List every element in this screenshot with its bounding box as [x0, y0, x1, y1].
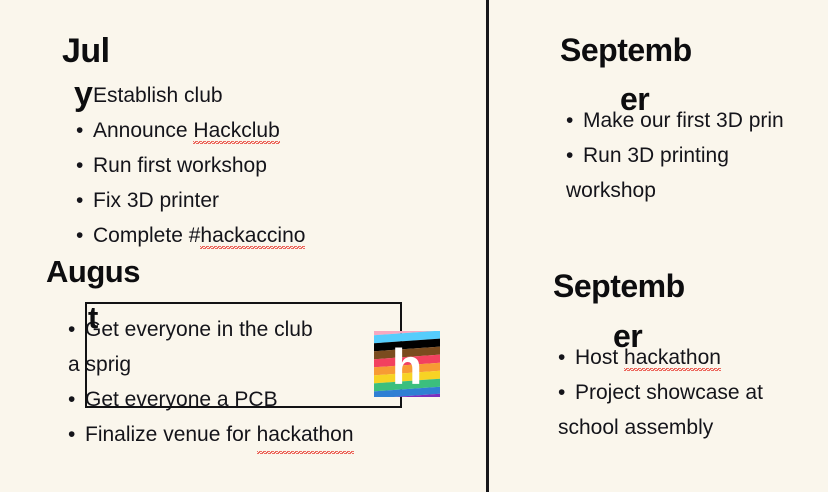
hack-club-flag-svg: h	[374, 331, 440, 397]
slide-canvas: Jul y • Establish club • Announce Hackcl…	[0, 0, 828, 492]
list-item-label: Fix 3D printer	[93, 189, 219, 212]
list-item[interactable]: • Complete #hackaccino	[76, 218, 305, 253]
list-item-label: Run first workshop	[93, 154, 267, 177]
bullet-dot: •	[76, 148, 83, 183]
list-item-label: Complete #hackaccino	[93, 224, 305, 250]
selection-rectangle[interactable]	[85, 302, 402, 408]
list-item[interactable]: • Run 3D printing workshop	[566, 138, 784, 208]
list-item[interactable]: • Project showcase at school assembly	[558, 375, 763, 445]
hack-club-logo-icon[interactable]: h	[374, 331, 440, 397]
list-item[interactable]: • Make our first 3D prin	[566, 103, 784, 138]
list-item-label: Finalize venue for	[85, 423, 251, 446]
list-item-label-line2: workshop	[566, 173, 784, 208]
bullet-dot: •	[76, 183, 83, 218]
heading-july-line1: Jul	[62, 34, 110, 68]
list-item[interactable]: • Announce Hackclub	[76, 113, 305, 148]
list-item-label: Host hackathon	[575, 346, 721, 372]
september-2-bullet-list: • Host hackathon • Project showcase at s…	[558, 340, 763, 445]
bullet-dot: •	[566, 138, 573, 173]
misspelled-word: hackathon	[257, 417, 354, 455]
heading-september-1-line1: Septemb	[560, 34, 692, 66]
bullet-dot: •	[68, 417, 75, 452]
list-item-label: Make our first 3D prin	[583, 109, 784, 132]
list-item[interactable]: • Host hackathon	[558, 340, 763, 375]
heading-september-2-line1: Septemb	[553, 270, 685, 302]
list-item-label: Run 3D printing	[583, 144, 729, 167]
logo-letter: h	[392, 339, 423, 395]
list-item[interactable]: • Finalize venue for hackathon	[68, 417, 354, 455]
heading-august-line2: t	[88, 302, 98, 333]
bullet-dot: •	[68, 312, 75, 347]
september-1-bullet-list: • Make our first 3D prin • Run 3D printi…	[566, 103, 784, 208]
list-item[interactable]: • Establish club	[76, 78, 305, 113]
bullet-dot: •	[558, 375, 565, 410]
list-item[interactable]: • Run first workshop	[76, 148, 305, 183]
list-item-label: Project showcase at	[575, 381, 763, 404]
list-item-label-line2: school assembly	[558, 410, 763, 445]
misspelled-word: hackathon	[624, 346, 721, 372]
heading-august-line1: Augus	[46, 256, 140, 287]
bullet-dot: •	[76, 218, 83, 253]
bullet-dot: •	[76, 113, 83, 148]
bullet-dot: •	[68, 382, 75, 417]
bullet-dot: •	[558, 340, 565, 375]
bullet-dot: •	[566, 103, 573, 138]
july-bullet-list: • Establish club • Announce Hackclub • R…	[76, 78, 305, 253]
list-item-label: Announce Hackclub	[93, 119, 280, 145]
column-divider	[486, 0, 489, 492]
misspelled-word: Hackclub	[193, 119, 279, 145]
misspelled-word: hackaccino	[200, 224, 305, 250]
list-item-label: Establish club	[93, 84, 223, 107]
list-item[interactable]: • Fix 3D printer	[76, 183, 305, 218]
